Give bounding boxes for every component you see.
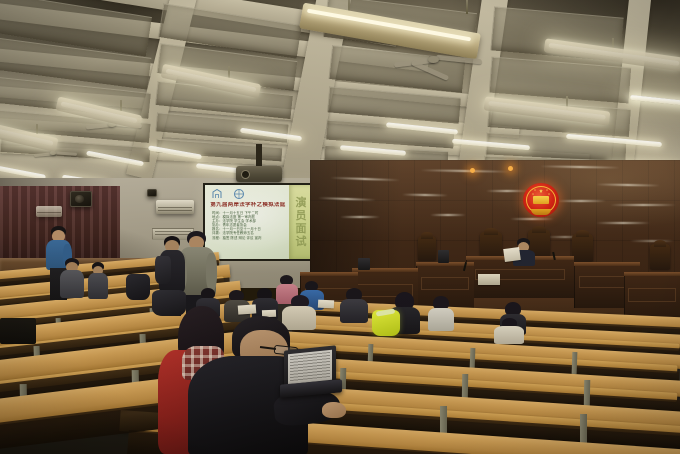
- paper-sheet: [318, 300, 334, 309]
- wall-light-reflection: [596, 222, 650, 224]
- laptop-screen: [288, 350, 332, 385]
- torso: [428, 308, 454, 331]
- photo-lecture-hall-mock-court: 第九届两岸法学杯之模拟法庭 时间：十一月十五日 下午二时 地点：模拟法庭 第一审…: [0, 0, 680, 454]
- backpack: [155, 256, 171, 284]
- hand: [322, 402, 346, 418]
- emblem-gate-icon: [533, 196, 549, 204]
- banner-char: 演: [296, 197, 307, 209]
- torso: [60, 270, 84, 298]
- national-emblem: [523, 183, 559, 217]
- judge-chair: [418, 236, 436, 260]
- backpack-left-foreground: [126, 274, 150, 300]
- wall-light-reflection: [630, 240, 674, 242]
- projection-screen-frame: 第九届两岸法学杯之模拟法庭 时间：十一月十五日 下午二时 地点：模拟法庭 第一审…: [203, 183, 315, 261]
- air-conditioner-unit: [156, 200, 194, 214]
- wall-light-reflection: [610, 204, 676, 206]
- banner-char: 面: [296, 223, 307, 235]
- person-standing-left-edge: [60, 258, 86, 302]
- laptop-screen-text: [290, 352, 330, 382]
- wall-light-reflection: [340, 216, 380, 218]
- document-on-bench: [503, 247, 521, 262]
- bench-monitor: [438, 250, 449, 263]
- wall-light-reflection: [430, 214, 466, 216]
- wall-downlight: [508, 166, 513, 171]
- wall-light-reflection: [510, 218, 554, 220]
- fixture-rod: [466, 0, 468, 14]
- university-logo-icon: [211, 188, 223, 200]
- person-standing-left-edge-2: [88, 262, 110, 300]
- wall-speaker-icon: [147, 189, 157, 197]
- banner-char: 试: [296, 236, 307, 248]
- wall-light-reflection: [486, 190, 528, 192]
- wall-speaker-icon: [70, 191, 92, 207]
- banner-char: 员: [296, 210, 307, 222]
- wall-light-reflection: [556, 200, 606, 202]
- person-student-white-right: [428, 296, 454, 330]
- paper-sheet: [238, 304, 257, 314]
- folder-on-bench: [478, 274, 500, 285]
- open-laptop: [284, 348, 350, 398]
- bag-on-desk: [152, 290, 186, 316]
- person-student-right-cream: [494, 318, 524, 342]
- air-conditioner-unit: [36, 206, 62, 217]
- arm: [206, 253, 217, 291]
- emblem-logo-icon: [233, 188, 245, 200]
- slide-body-lines: 时间：十一月十五日 下午二时 地点：模拟法庭 第一审判庭 主办：法学院 学生会 …: [212, 211, 285, 240]
- judge-chair: [650, 244, 670, 269]
- ceiling-projector: [236, 144, 282, 184]
- desk-leg: [584, 380, 590, 408]
- torso: [88, 273, 108, 299]
- bench-monitor: [358, 258, 370, 270]
- torso: [494, 326, 524, 344]
- person-student-mid-right: [340, 288, 368, 322]
- slide-line: 流程：抽签 陈述 辩论 评议 宣判: [212, 236, 285, 240]
- torso: [340, 299, 368, 323]
- judge-chair: [572, 234, 593, 261]
- slide-title: 第九届两岸法学杯之模拟法庭: [209, 202, 287, 208]
- emblem-drape-icon: [531, 209, 551, 215]
- coffered-ceiling: [0, 0, 680, 186]
- slide-logos: [211, 188, 245, 200]
- desk-leg: [572, 352, 578, 374]
- wall-downlight: [470, 168, 475, 173]
- seat-shadow: [0, 318, 36, 344]
- projection-screen: 第九届两岸法学杯之模拟法庭 时间：十一月十五日 下午二时 地点：模拟法庭 第一审…: [205, 185, 313, 259]
